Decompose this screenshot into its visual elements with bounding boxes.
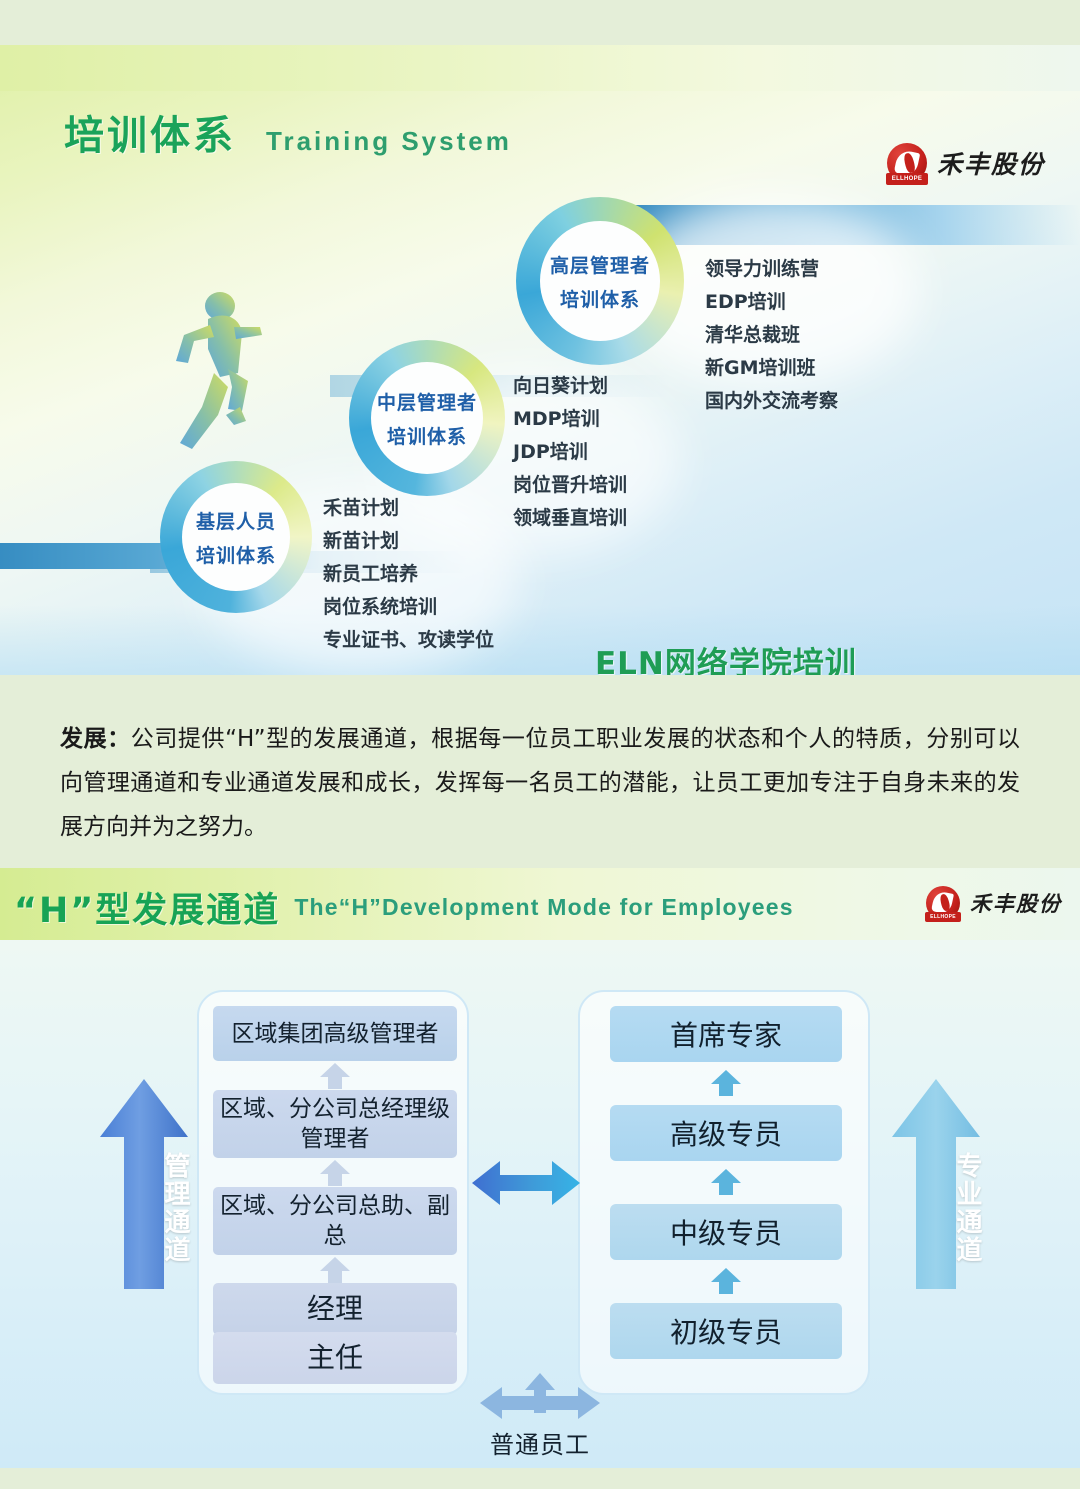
ring-label-line2: 培训体系 [387,422,467,449]
list-item: 禾苗计划 [323,492,494,525]
list-item: 国内外交流考察 [705,385,838,418]
paragraph-body: 公司提供“H”型的发展通道，根据每一位员工职业发展的状态和个人的特质，分别可以向… [60,726,1020,840]
general-employee-label: 普通员工 [0,1425,1080,1460]
list-item: 专业证书、攻读学位 [323,624,494,657]
ring-label-line2: 培训体系 [560,285,640,312]
training-title-zh: 培训体系 [64,103,236,161]
training-title: 培训体系 Training System [64,103,512,161]
bidirectional-arrow-icon [470,1155,582,1211]
three-way-arrow-icon [480,1373,600,1425]
management-track-label: 管理通道 [98,1133,190,1283]
h-title-zh: “H”型发展通道 [14,882,280,933]
company-logo-icon: ELLHOPE [926,886,960,920]
h-title: “H”型发展通道 The“H”Development Mode for Empl… [14,882,794,933]
professional-level-2[interactable]: 高级专员 [610,1105,842,1161]
professional-level-1[interactable]: 首席专家 [610,1006,842,1062]
list-item: EDP培训 [705,286,838,319]
arrow-up-icon [709,1267,743,1295]
training-system-section: 培训体系 Training System ELLHOPE 禾丰股份 [0,45,1080,675]
ring-label-line1: 中层管理者 [377,388,477,415]
arrow-up-icon [318,1159,352,1187]
ring-label-line1: 高层管理者 [550,251,650,278]
arrow-up-icon [318,1256,352,1284]
company-logo-icon: ELLHOPE [887,143,927,183]
list-item: 领域垂直培训 [513,502,627,535]
professional-track-label: 专业通道 [890,1133,982,1283]
management-track-arrow: 管理通道 [98,1075,190,1293]
brand-name: 禾丰股份 [937,145,1045,181]
h-title-en: The“H”Development Mode for Employees [294,894,793,921]
ring-frontline-staff: 基层人员 培训体系 [160,461,312,613]
management-level-3[interactable]: 区域、分公司总助、副总 [213,1187,457,1255]
management-level-4[interactable]: 经理 [213,1283,457,1335]
ring-label-line1: 基层人员 [196,507,276,534]
development-paragraph-section: 发展：公司提供“H”型的发展通道，根据每一位员工职业发展的状态和个人的特质，分别… [0,675,1080,868]
eln-footer-note: ELN网络学院培训 [595,638,857,675]
logo-plate-text: ELLHOPE [930,914,956,920]
professional-ladder-panel: 首席专家 高级专员 中级专员 初级专员 [578,990,870,1395]
list-item: 清华总裁班 [705,319,838,352]
training-items-frontline: 禾苗计划 新苗计划 新员工培养 岗位系统培训 专业证书、攻读学位 [323,492,494,657]
top-color-band [0,45,1080,91]
management-ladder-panel: 区域集团高级管理者 区域、分公司总经理级管理者 区域、分公司总助、副总 经理 主… [197,990,469,1395]
arrow-up-icon [318,1062,352,1090]
list-item: 领导力训练营 [705,253,838,286]
running-person-icon [158,277,308,457]
management-level-5[interactable]: 主任 [213,1332,457,1384]
training-title-en: Training System [266,126,512,161]
professional-level-4[interactable]: 初级专员 [610,1303,842,1359]
bottom-haze [0,605,1080,675]
logo-plate-text: ELLHOPE [892,176,922,182]
poster-page: 培训体系 Training System ELLHOPE 禾丰股份 [0,0,1080,1489]
paragraph-lead: 发展： [60,726,131,752]
ring-senior-management: 高层管理者 培训体系 [516,197,684,365]
ring-middle-management: 中层管理者 培训体系 [349,340,505,496]
management-level-2[interactable]: 区域、分公司总经理级管理者 [213,1090,457,1158]
ring-label-line2: 培训体系 [196,541,276,568]
list-item: 岗位系统培训 [323,591,494,624]
list-item: 新苗计划 [323,525,494,558]
brand-logo-bottom: ELLHOPE 禾丰股份 [926,886,1062,920]
list-item: 新GM培训班 [705,352,838,385]
professional-track-arrow: 专业通道 [890,1075,982,1293]
footer-strip [0,1468,1080,1489]
brand-logo-top: ELLHOPE 禾丰股份 [887,143,1045,183]
list-item: 向日葵计划 [513,370,627,403]
training-items-middle: 向日葵计划 MDP培训 JDP培训 岗位晋升培训 领域垂直培训 [513,370,627,535]
list-item: JDP培训 [513,436,627,469]
professional-level-3[interactable]: 中级专员 [610,1204,842,1260]
list-item: 新员工培养 [323,558,494,591]
training-items-senior: 领导力训练营 EDP培训 清华总裁班 新GM培训班 国内外交流考察 [705,253,838,418]
brand-name: 禾丰股份 [970,888,1062,918]
arrow-up-icon [709,1069,743,1097]
list-item: MDP培训 [513,403,627,436]
list-item: 岗位晋升培训 [513,469,627,502]
management-level-1[interactable]: 区域集团高级管理者 [213,1006,457,1061]
arrow-up-icon [709,1168,743,1196]
development-paragraph: 发展：公司提供“H”型的发展通道，根据每一位员工职业发展的状态和个人的特质，分别… [60,717,1020,849]
